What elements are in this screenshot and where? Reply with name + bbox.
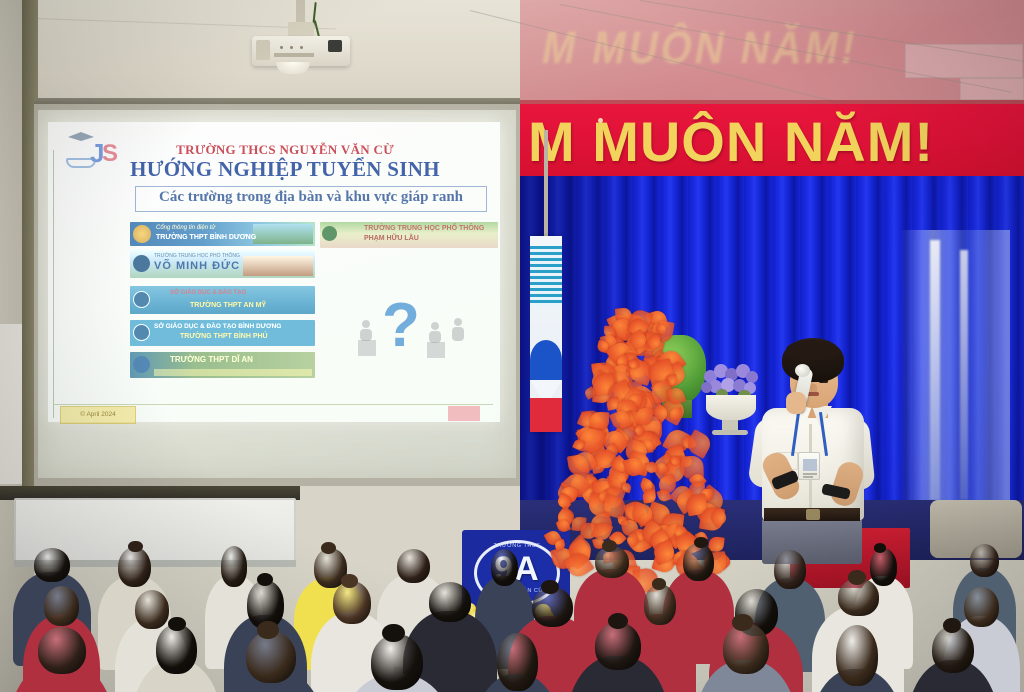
audience-member-head [118,547,151,588]
audience-hair-bun [694,537,708,548]
slide-headline: HƯỚNG NGHIỆP TUYỂN SINH [120,157,450,182]
banner-4-emblem-icon [133,324,150,341]
slide-question-mark: ? [382,295,420,357]
audience-member-head [932,626,974,673]
banner-pole [544,130,548,242]
slide-banner-1: Cổng thông tin điện tử TRƯỜNG THPT BÌNH … [130,222,315,246]
audience-member-head [397,549,430,583]
slide-footer-right [448,406,480,421]
audience-hair-bun [168,617,186,631]
banner-5-line1: TRƯỜNG THPT DĨ AN [170,355,253,364]
audience-member-head [34,548,70,582]
slide-footer-left-text: © April 2024 [61,407,135,423]
audience-member-head [970,544,999,577]
banner-teal-pattern [530,246,562,306]
book-icon [66,158,96,168]
audience-member-head [156,624,197,673]
banner-5-emblem-icon [133,356,150,373]
slide-banner-2: TRƯỜNG TRUNG HỌC PHỔ THÔNG VÕ MINH ĐỨC [130,250,315,278]
slide-section-title: Các trường trong địa bàn và khu vực giáp… [135,189,487,206]
banner-3-line2: TRƯỜNG THPT AN MỸ [190,302,266,309]
presenter-hand-holding-mic [786,392,806,414]
audience-member-head [333,581,371,624]
audience-member-head [723,623,769,674]
slide-school-name: TRƯỜNG THCS NGUYỄN VĂN CỪ [120,142,450,158]
banner-1-emblem-icon [133,225,151,243]
banner-2-emblem-icon [133,255,150,272]
audience-member-head [836,625,879,686]
audience-hair-bun [321,542,336,554]
projector-vent [256,40,270,60]
audience-member-head [774,550,806,589]
banner-3-emblem-icon [133,291,150,308]
banner-1-line2: TRƯỜNG THPT BÌNH DƯƠNG [156,234,256,241]
projector-port [328,40,342,52]
slide-divider-horizontal [53,404,493,405]
projector-label-strip [274,53,314,57]
slide-divider-vertical [53,150,54,418]
audience-member-head [870,548,897,586]
banner-2-line1: TRƯỜNG TRUNG HỌC PHỔ THÔNG [154,253,240,259]
slide-banner-3: SỞ GIÁO DỤC & ĐÀO TẠO TRƯỜNG THPT AN MỸ [130,286,315,314]
audience-member-head [497,633,537,691]
banner-5-photo-strip [154,369,312,376]
audience-member-head [135,590,169,629]
banner-1-photo [253,224,313,244]
audience-member-head [371,634,423,690]
audience-hair-bun [732,614,752,630]
banner-2-building-photo [243,256,313,276]
slide-figure-right [424,322,448,356]
audience-member-head [44,586,79,626]
audience-member-head [644,584,676,625]
presenter-hair-fringe [786,340,838,360]
audience-hair-bun [652,578,666,589]
slide-figure-left [355,320,379,354]
audience-hair-bun [341,574,358,587]
ceiling-panel-1 [905,44,1023,78]
audience-member-head [491,549,518,586]
curtain-highlight-1 [930,240,940,500]
banner-4-line1: SỞ GIÁO DỤC & ĐÀO TẠO BÌNH DƯƠNG [154,323,281,330]
slide-banner-6: TRƯỜNG TRUNG HỌC PHỔ THÔNG PHẠM HỮU LẦU [320,222,498,248]
banner-pin-1 [598,118,603,123]
presentation-hall-scene: M MUÔN NĂM! M MUÔN NĂM! C [0,0,1024,692]
maple-leaf [671,456,680,465]
audience-member-head [683,543,715,581]
seated-audience [0,480,1024,692]
audience-hair-bun [602,540,617,552]
slide-banner-4: SỞ GIÁO DỤC & ĐÀO TẠO BÌNH DƯƠNG TRƯỜNG … [130,320,315,346]
banner-1-line1: Cổng thông tin điện tử [156,225,215,231]
slide-banner-5: TRƯỜNG THPT DĨ AN [130,352,315,378]
slide-footer-left: © April 2024 [60,406,136,424]
banner-3-line1: SỞ GIÁO DỤC & ĐÀO TẠO [170,290,246,296]
curtain-highlight-2 [960,250,968,500]
audience-member-head [964,587,999,627]
audience-member-head [221,546,248,586]
audience-member-head [429,582,471,621]
logo-letter-s: S [102,140,118,168]
banner-6-line1: TRƯỜNG TRUNG HỌC PHỔ THÔNG [364,225,484,232]
slide-school-logo-icon: J S [62,128,118,178]
audience-hair-bun [943,618,961,633]
id-badge [798,452,820,480]
audience-member-head [38,627,86,674]
microphone-head [795,364,810,377]
banner-6-line2: PHẠM HỮU LẦU [364,235,419,242]
audience-hair-bun [382,624,405,642]
audience-hair-bun [874,543,886,553]
audience-hair-bun [257,621,279,638]
banner-4-line2: TRƯỜNG THPT BÌNH PHÚ [180,333,268,340]
banner-6-emblem-icon [322,226,337,241]
slide-figure-far-right [448,318,470,354]
curtain-light-reflection [900,230,1010,506]
banner-2-line2: VÕ MINH ĐỨC [154,260,240,272]
